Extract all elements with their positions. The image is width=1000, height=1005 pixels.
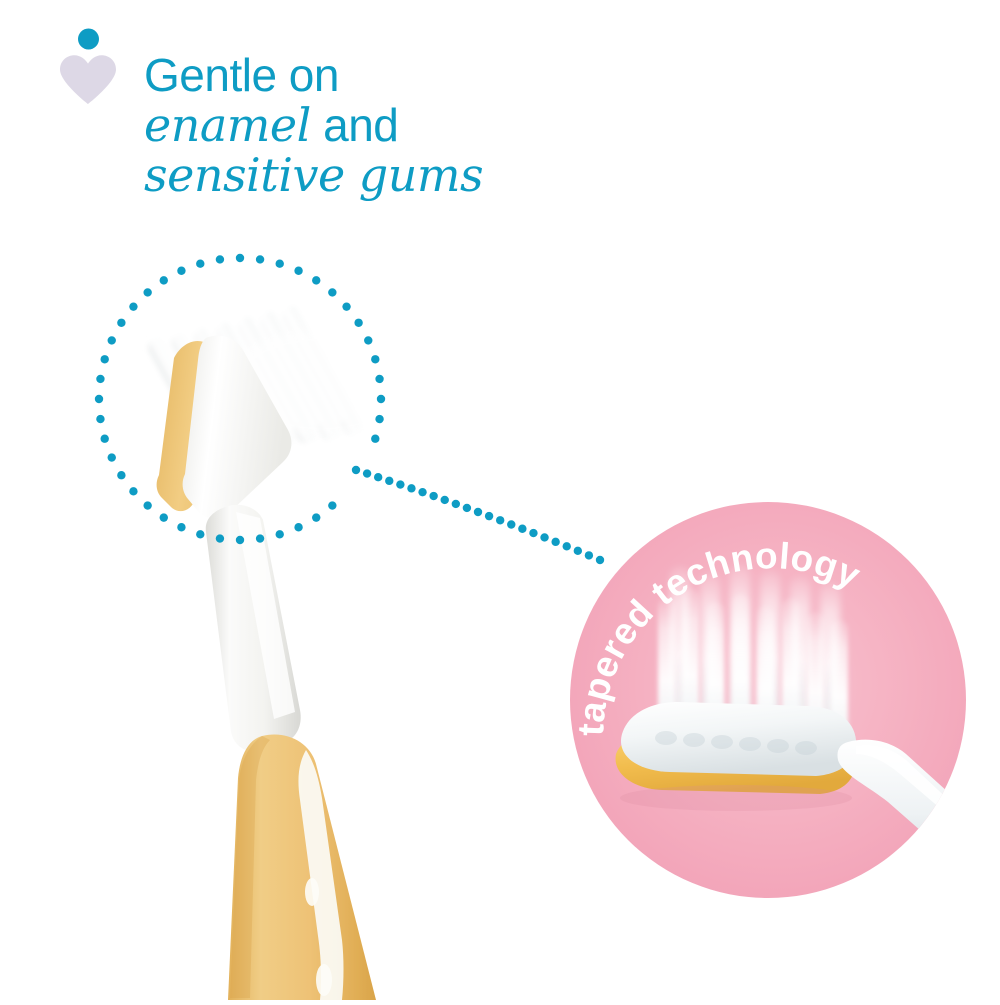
- page-canvas: Gentle on enamel and sensitive gums: [0, 0, 1000, 1000]
- headline-line-3: sensitive gums: [144, 152, 483, 198]
- connector-dot: [529, 529, 537, 537]
- connector-dot: [540, 533, 548, 541]
- headline-emphasis-enamel: enamel: [144, 98, 311, 152]
- detail-circle-label-text: tapered technology: [570, 535, 867, 737]
- callout-dot: [96, 375, 104, 383]
- callout-dot: [236, 254, 244, 262]
- headline-line-1: Gentle on: [144, 52, 483, 98]
- detail-circle-background: tapered technology: [570, 502, 966, 898]
- callout-dot: [256, 255, 264, 263]
- headline-line-2-rest: and: [311, 99, 399, 151]
- callout-dot: [294, 267, 302, 275]
- callout-dot: [216, 255, 224, 263]
- callout-dot: [196, 260, 204, 268]
- page-title: Gentle on enamel and sensitive gums: [144, 52, 483, 198]
- headline-line-2: enamel and: [144, 102, 483, 148]
- toothbrush-main: [110, 280, 530, 1000]
- callout-dot: [276, 260, 284, 268]
- heart-icon: [56, 28, 120, 108]
- callout-dot: [101, 355, 109, 363]
- detail-circle-label-textpath: tapered technology: [570, 535, 867, 737]
- heart-icon-shape: [60, 55, 116, 104]
- tapered-technology-detail: tapered technology: [570, 502, 970, 902]
- callout-dot: [177, 267, 185, 275]
- brush-handle-grip-dot: [316, 964, 332, 996]
- heart-icon-dot: [78, 29, 99, 50]
- brush-handle-grip-dot: [305, 878, 319, 906]
- detail-circle-label: tapered technology: [570, 502, 966, 898]
- callout-dot: [101, 435, 109, 443]
- connector-dot: [551, 538, 559, 546]
- callout-dot: [95, 395, 103, 403]
- callout-dot: [96, 415, 104, 423]
